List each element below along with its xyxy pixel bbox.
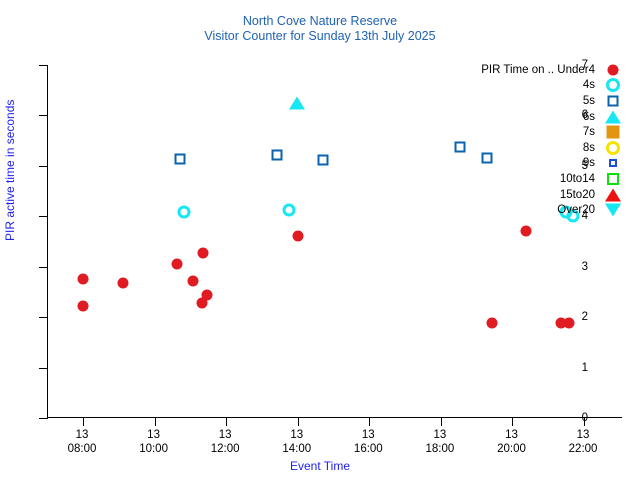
- legend-glyph: [608, 95, 619, 106]
- y-tick-mark: [39, 115, 48, 116]
- x-tick-mark: [155, 417, 156, 426]
- x-axis-title: Event Time: [0, 459, 640, 473]
- circle-filled-red-icon: [602, 62, 624, 78]
- x-tick-mark: [298, 417, 299, 426]
- x-tick-label: 1316:00: [354, 429, 383, 456]
- triangle-up-red-icon: [602, 187, 624, 203]
- circle-open-cyan-icon: [602, 78, 624, 94]
- chart-title-line1: North Cove Nature Reserve: [0, 14, 640, 29]
- legend-label: PIR Time on .. Under4: [481, 64, 602, 76]
- legend-glyph: [607, 173, 619, 185]
- legend-glyph: [608, 64, 619, 75]
- legend-item-7s[interactable]: 7s: [428, 124, 624, 140]
- data-point-5s: [174, 153, 185, 164]
- legend-label: 10to14: [560, 173, 602, 185]
- x-tick-mark: [512, 417, 513, 426]
- x-tick-label: 1312:00: [211, 429, 240, 456]
- y-tick-label: 0: [582, 412, 588, 424]
- legend-item-5s[interactable]: 5s: [428, 93, 624, 109]
- x-tick-mark: [226, 417, 227, 426]
- x-tick-mark: [83, 417, 84, 426]
- legend-label: 15to20: [560, 189, 602, 201]
- legend-item-8s[interactable]: 8s: [428, 140, 624, 156]
- x-tick-mark: [441, 417, 442, 426]
- chart-title-line2: Visitor Counter for Sunday 13th July 202…: [0, 29, 640, 44]
- data-point-under4: [117, 278, 128, 289]
- x-tick-label: 1314:00: [282, 429, 311, 456]
- triangle-up-cyan-icon: [602, 109, 624, 125]
- legend-label: Over20: [557, 204, 602, 216]
- y-tick-label: 2: [582, 311, 588, 323]
- diamond-open-blue-icon: [602, 156, 624, 172]
- legend-glyph: [605, 188, 621, 201]
- data-point-5s: [271, 149, 282, 160]
- data-point-under4: [78, 274, 89, 285]
- legend-label: 4s: [583, 79, 602, 91]
- data-point-6s: [289, 96, 305, 109]
- data-point-under4: [172, 259, 183, 270]
- legend: PIR Time on .. Under44s5s6s7s8s9s10to141…: [428, 62, 624, 218]
- data-point-4s: [282, 204, 295, 217]
- y-tick-mark: [39, 267, 48, 268]
- data-point-under4: [197, 298, 208, 309]
- legend-glyph: [605, 110, 621, 123]
- data-point-under4: [188, 276, 199, 287]
- square-filled-orange-icon: [602, 124, 624, 140]
- legend-label: 8s: [583, 142, 602, 154]
- y-tick-label: 1: [582, 362, 588, 374]
- legend-glyph: [606, 141, 620, 155]
- x-tick-label: 1322:00: [569, 429, 598, 456]
- x-tick-label: 1320:00: [497, 429, 526, 456]
- x-tick-label: 1308:00: [68, 429, 97, 456]
- legend-item-over20[interactable]: Over20: [428, 202, 624, 218]
- x-tick-mark: [369, 417, 370, 426]
- legend-item-9s[interactable]: 9s: [428, 156, 624, 172]
- square-open-green-icon: [602, 171, 624, 187]
- chart-title: North Cove Nature Reserve Visitor Counte…: [0, 14, 640, 44]
- data-point-under4: [487, 318, 498, 329]
- data-point-4s: [178, 205, 191, 218]
- data-point-under4: [292, 231, 303, 242]
- y-axis-title: PIR active time in seconds: [3, 100, 17, 241]
- y-tick-mark: [39, 368, 48, 369]
- data-point-under4: [564, 318, 575, 329]
- legend-item-10to14[interactable]: 10to14: [428, 171, 624, 187]
- data-point-5s: [317, 154, 328, 165]
- x-tick-label: 1318:00: [426, 429, 455, 456]
- y-tick-label: 3: [582, 261, 588, 273]
- legend-item-4s[interactable]: 4s: [428, 78, 624, 94]
- data-point-under4: [520, 226, 531, 237]
- legend-item-15to20[interactable]: 15to20: [428, 187, 624, 203]
- legend-label: 6s: [583, 111, 602, 123]
- y-tick-mark: [39, 418, 48, 419]
- triangle-down-cyan-icon: [602, 202, 624, 218]
- square-open-blue-icon: [602, 93, 624, 109]
- legend-item-6s[interactable]: 6s: [428, 109, 624, 125]
- legend-glyph: [609, 159, 617, 167]
- legend-label: 5s: [583, 95, 602, 107]
- legend-label: 9s: [583, 157, 602, 169]
- data-point-under4: [78, 300, 89, 311]
- legend-glyph: [605, 204, 621, 217]
- legend-glyph: [607, 126, 620, 139]
- legend-label: 7s: [583, 126, 602, 138]
- y-tick-mark: [39, 317, 48, 318]
- data-point-under4: [198, 247, 209, 258]
- y-tick-mark: [39, 166, 48, 167]
- circle-open-yellow-icon: [602, 140, 624, 156]
- x-tick-label: 1310:00: [139, 429, 168, 456]
- chart-root: North Cove Nature Reserve Visitor Counte…: [0, 0, 640, 480]
- y-tick-mark: [39, 65, 48, 66]
- legend-item-under4[interactable]: PIR Time on .. Under4: [428, 62, 624, 78]
- y-tick-mark: [39, 216, 48, 217]
- legend-glyph: [606, 78, 620, 92]
